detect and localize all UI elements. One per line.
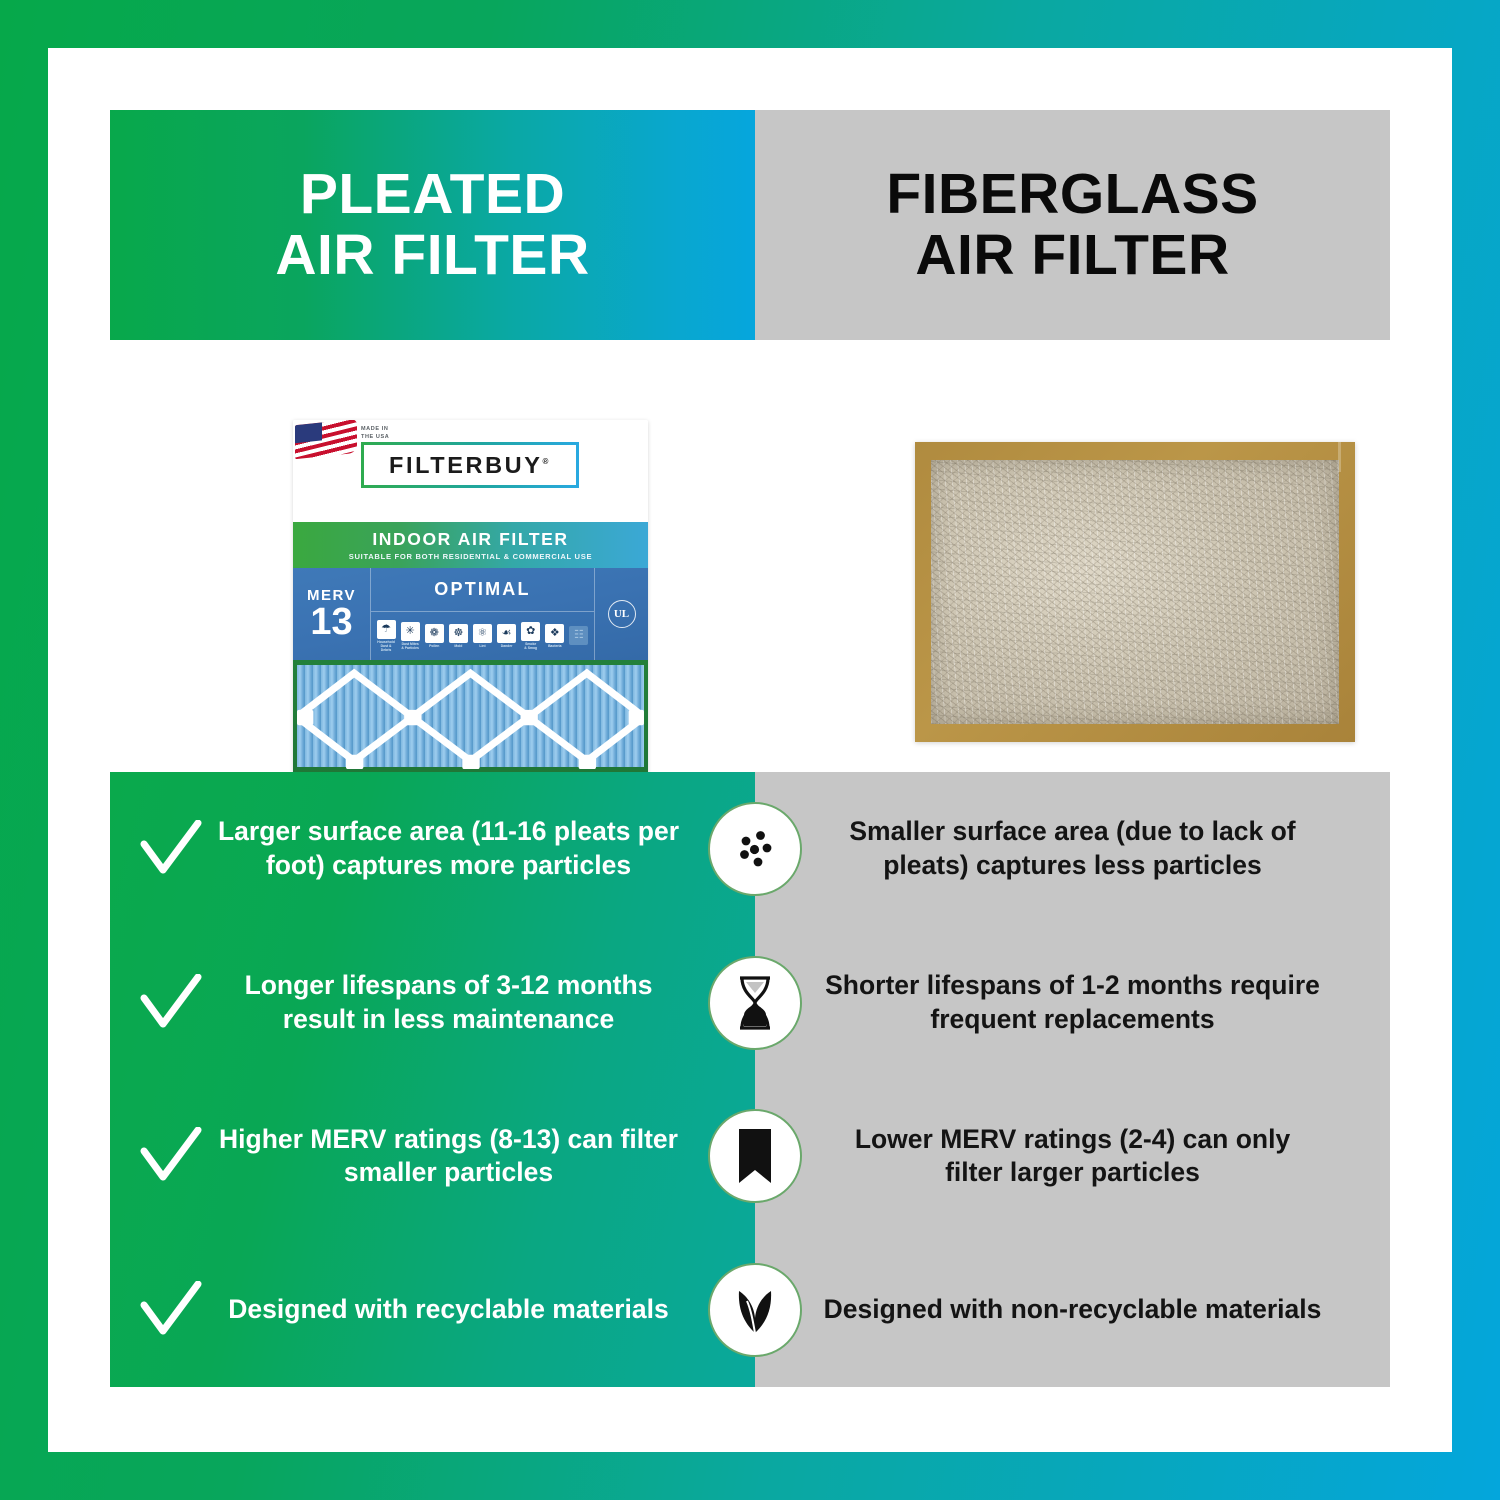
feature-caption: Bacteria <box>548 644 561 648</box>
header-pleated-title: PLEATED AIR FILTER <box>275 164 589 286</box>
feature-caption: Household Dust & Debris <box>375 640 397 653</box>
feature-caption: Smoke & Smog <box>524 642 537 651</box>
usa-flag-icon <box>295 420 357 459</box>
mold-icon: ☸ <box>449 624 468 643</box>
row-left-text: Designed with recyclable materials <box>214 1293 737 1327</box>
lint-icon: ⚛ <box>473 624 492 643</box>
tier-cell: OPTIMAL <box>371 568 594 612</box>
package-band-subtitle: SUITABLE FOR BOTH RESIDENTIAL & COMMERCI… <box>349 552 593 561</box>
feature-icon-mold: ☸ Mold <box>447 624 469 648</box>
household-dust-icon: ☂ <box>377 620 396 639</box>
header-fiberglass: FIBERGLASS AIR FILTER <box>755 110 1390 340</box>
pollen-icon: ❁ <box>425 624 444 643</box>
support-wire-icon <box>297 665 644 769</box>
comparison-infographic: PLEATED AIR FILTER FIBERGLASS AIR FILTER… <box>0 0 1500 1500</box>
row-left-text: Longer lifespans of 3-12 months result i… <box>214 969 737 1036</box>
row-right-side: Smaller surface area (due to lack of ple… <box>755 772 1390 926</box>
filterbuy-package: MADE IN THE USA FILTERBUY® INDOOR AIR FI… <box>293 420 648 792</box>
package-spec-block: MERV 13 OPTIMAL UL ☂ Household Du <box>293 568 648 660</box>
certification-cell: UL <box>594 568 648 660</box>
row-right-side: Lower MERV ratings (2-4) can only filter… <box>755 1080 1390 1234</box>
row-right-text: Smaller surface area (due to lack of ple… <box>823 815 1323 882</box>
row-left-text: Higher MERV ratings (8-13) can filter sm… <box>214 1123 737 1190</box>
row-left-side: Designed with recyclable materials <box>110 1233 755 1387</box>
feature-icon-lint: ⚛ Lint <box>471 624 493 648</box>
dust-mite-icon: ✳ <box>401 622 420 641</box>
merv-cell: MERV 13 <box>293 568 371 660</box>
checkmark-icon <box>128 1281 214 1339</box>
feature-icon-household-dust: ☂ Household Dust & Debris <box>375 620 397 653</box>
row-right-text: Shorter lifespans of 1-2 months require … <box>823 969 1323 1036</box>
feature-icon-smoke: ✿ Smoke & Smog <box>520 622 542 651</box>
feature-caption: Dust Mites & Particles <box>401 642 419 651</box>
fiberglass-media <box>931 460 1339 724</box>
made-in-usa-text: MADE IN THE USA <box>361 425 389 442</box>
row-left-text: Larger surface area (11-16 pleats per fo… <box>214 815 737 882</box>
brand-logo: FILTERBUY® <box>361 442 579 488</box>
feature-icon-disabled: ☷ <box>568 626 590 646</box>
row-right-side: Shorter lifespans of 1-2 months require … <box>755 926 1390 1080</box>
row-left-side: Longer lifespans of 3-12 months result i… <box>110 926 755 1080</box>
header-pleated: PLEATED AIR FILTER <box>110 110 755 340</box>
bacteria-icon: ❖ <box>545 624 564 643</box>
checkmark-icon <box>128 1127 214 1185</box>
package-band: INDOOR AIR FILTER SUITABLE FOR BOTH RESI… <box>293 522 648 568</box>
hourglass-icon <box>708 956 802 1050</box>
blue-pleats <box>297 665 644 767</box>
feature-caption: Dander <box>501 644 513 648</box>
leaf-icon <box>708 1263 802 1357</box>
package-band-title: INDOOR AIR FILTER <box>372 529 568 550</box>
brand-name: FILTERBUY® <box>389 452 551 479</box>
feature-icon-dander: ☙ Dander <box>496 624 518 648</box>
feature-caption: Mold <box>454 644 462 648</box>
product-images-strip: MADE IN THE USA FILTERBUY® INDOOR AIR FI… <box>110 340 1390 772</box>
white-card: PLEATED AIR FILTER FIBERGLASS AIR FILTER… <box>48 48 1452 1452</box>
pleated-filter-image: MADE IN THE USA FILTERBUY® INDOOR AIR FI… <box>293 420 648 792</box>
merv-value: 13 <box>310 604 352 640</box>
checkmark-icon <box>128 974 214 1032</box>
feature-icon-strip: ☂ Household Dust & Debris ✳ Dust Mites &… <box>371 612 594 660</box>
row-right-side: Designed with non-recyclable materials <box>755 1233 1390 1387</box>
comparison-row: Longer lifespans of 3-12 months result i… <box>110 926 1390 1080</box>
comparison-row: Higher MERV ratings (8-13) can filter sm… <box>110 1080 1390 1234</box>
row-right-text: Designed with non-recyclable materials <box>824 1293 1322 1327</box>
header-fiberglass-title: FIBERGLASS AIR FILTER <box>886 164 1258 286</box>
package-top: MADE IN THE USA FILTERBUY® <box>293 420 648 522</box>
feature-caption: Lint <box>479 644 485 648</box>
feature-caption: Pollen <box>429 644 439 648</box>
feature-icon-bacteria: ❖ Bacteria <box>544 624 566 648</box>
row-left-side: Larger surface area (11-16 pleats per fo… <box>110 772 755 926</box>
inactive-feature-icon: ☷ <box>569 626 588 645</box>
row-right-text: Lower MERV ratings (2-4) can only filter… <box>823 1123 1323 1190</box>
comparison-row: Designed with recyclable materials Desig… <box>110 1233 1390 1387</box>
particles-icon <box>708 802 802 896</box>
tier-label: OPTIMAL <box>434 579 530 600</box>
ul-badge-icon: UL <box>608 600 636 628</box>
smoke-icon: ✿ <box>521 622 540 641</box>
comparison-row: Larger surface area (11-16 pleats per fo… <box>110 772 1390 926</box>
checkmark-icon <box>128 820 214 878</box>
bookmark-icon <box>708 1109 802 1203</box>
feature-icon-pollen: ❁ Pollen <box>423 624 445 648</box>
comparison-panel: Larger surface area (11-16 pleats per fo… <box>110 772 1390 1387</box>
feature-icon-dust-mites: ✳ Dust Mites & Particles <box>399 622 421 651</box>
row-left-side: Higher MERV ratings (8-13) can filter sm… <box>110 1080 755 1234</box>
header-band: PLEATED AIR FILTER FIBERGLASS AIR FILTER <box>110 110 1390 340</box>
fiberglass-filter-image <box>915 442 1355 742</box>
dander-icon: ☙ <box>497 624 516 643</box>
